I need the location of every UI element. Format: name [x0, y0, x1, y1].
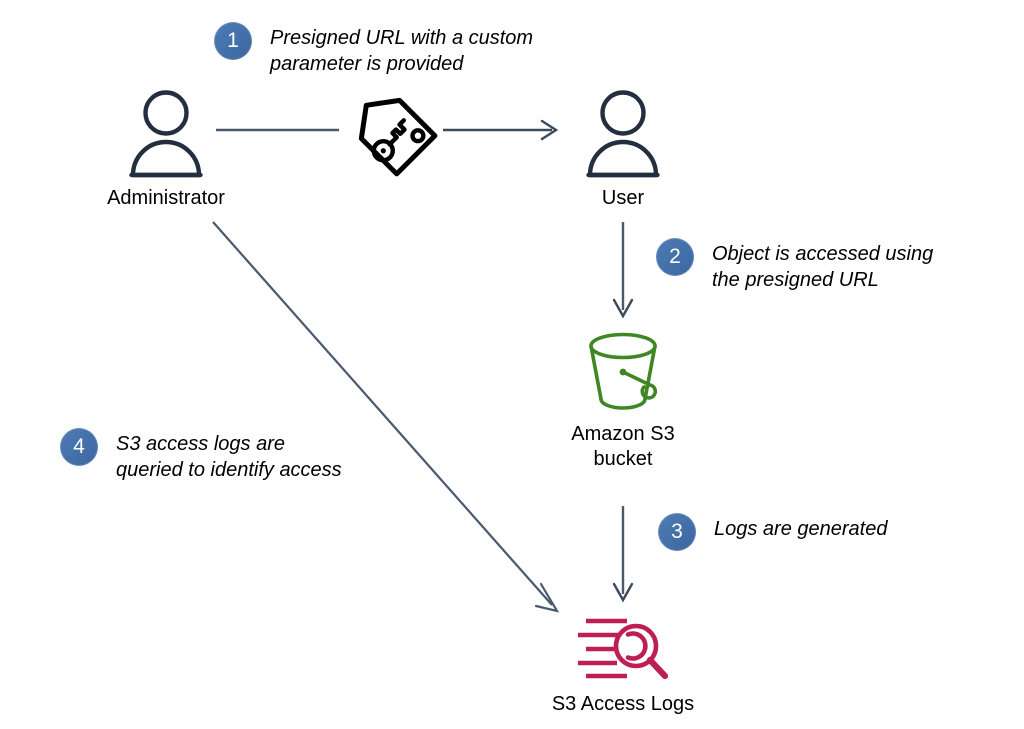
step-badge-3: 3	[658, 513, 696, 551]
node-s3-access-logs: S3 Access Logs	[533, 612, 713, 717]
step-2: 2 Object is accessed using the presigned…	[656, 238, 933, 293]
node-presigned-url	[348, 92, 444, 186]
connector-tag-to-user	[443, 121, 556, 139]
person-icon	[123, 86, 209, 178]
node-administrator: Administrator	[106, 86, 226, 211]
step-badge-2: 2	[656, 238, 694, 276]
connector-bucket-to-logs	[614, 506, 632, 600]
step-text-4: S3 access logs are queried to identify a…	[116, 428, 342, 483]
step-badge-4: 4	[60, 428, 98, 466]
node-label-s3-access-logs: S3 Access Logs	[552, 692, 694, 717]
person-icon	[580, 86, 666, 178]
connector-admin-to-logs	[213, 222, 557, 611]
s3-bucket-icon	[571, 330, 675, 414]
step-text-1: Presigned URL with a custom parameter is…	[270, 22, 533, 77]
step-text-3: Logs are generated	[714, 513, 887, 542]
node-user: User	[563, 86, 683, 211]
node-s3-bucket: Amazon S3 bucket	[543, 330, 703, 472]
step-4: 4 S3 access logs are queried to identify…	[60, 428, 342, 483]
tag-key-icon	[348, 92, 444, 178]
connector-user-to-bucket	[614, 222, 632, 316]
node-label-s3-bucket: Amazon S3 bucket	[571, 422, 674, 472]
access-logs-icon	[573, 612, 673, 684]
node-label-administrator: Administrator	[107, 186, 225, 211]
step-1: 1 Presigned URL with a custom parameter …	[214, 22, 533, 77]
diagram-canvas: Administrator User	[0, 0, 1024, 729]
step-text-2: Object is accessed using the presigned U…	[712, 238, 933, 293]
step-badge-1: 1	[214, 22, 252, 60]
node-label-user: User	[602, 186, 644, 211]
step-3: 3 Logs are generated	[658, 513, 887, 551]
